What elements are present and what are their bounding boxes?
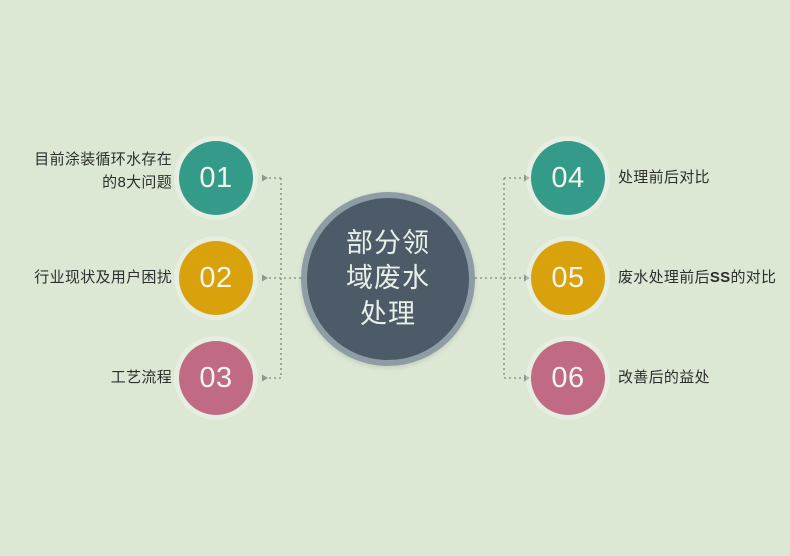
node-label-05-post: 的对比	[730, 269, 776, 286]
node-label-05: 废水处理前后SS的对比	[618, 266, 790, 289]
node-label-01-line2: 的8大问题	[0, 171, 172, 194]
right-connector-group	[475, 178, 524, 378]
node-number-06: 06	[551, 364, 584, 393]
node-circle-05[interactable]: 05	[531, 241, 605, 315]
node-label-06: 改善后的益处	[618, 366, 790, 389]
node-label-03: 工艺流程	[0, 366, 172, 389]
node-number-02: 02	[199, 264, 232, 293]
node-label-02: 行业现状及用户困扰	[0, 266, 172, 289]
node-number-01: 01	[199, 164, 232, 193]
infographic-canvas: 部分领 域废水 处理 01 02 03 04 05 06 目前涂装循环水存在 的…	[0, 0, 790, 556]
node-circle-04[interactable]: 04	[531, 141, 605, 215]
node-circle-01[interactable]: 01	[179, 141, 253, 215]
node-circle-06[interactable]: 06	[531, 341, 605, 415]
node-number-03: 03	[199, 364, 232, 393]
node-label-01-line1: 目前涂装循环水存在	[0, 148, 172, 171]
node-circle-03[interactable]: 03	[179, 341, 253, 415]
node-number-04: 04	[551, 164, 584, 193]
node-label-05-bold: SS	[710, 269, 731, 286]
node-label-05-pre: 废水处理前后	[618, 269, 710, 286]
node-circle-02[interactable]: 02	[179, 241, 253, 315]
node-label-01: 目前涂装循环水存在 的8大问题	[0, 148, 172, 195]
node-number-05: 05	[551, 264, 584, 293]
left-connector-group	[262, 178, 301, 378]
center-hub[interactable]: 部分领 域废水 处理	[301, 192, 475, 366]
node-label-04: 处理前后对比	[618, 166, 790, 189]
center-hub-title: 部分领 域废水 处理	[346, 226, 430, 333]
